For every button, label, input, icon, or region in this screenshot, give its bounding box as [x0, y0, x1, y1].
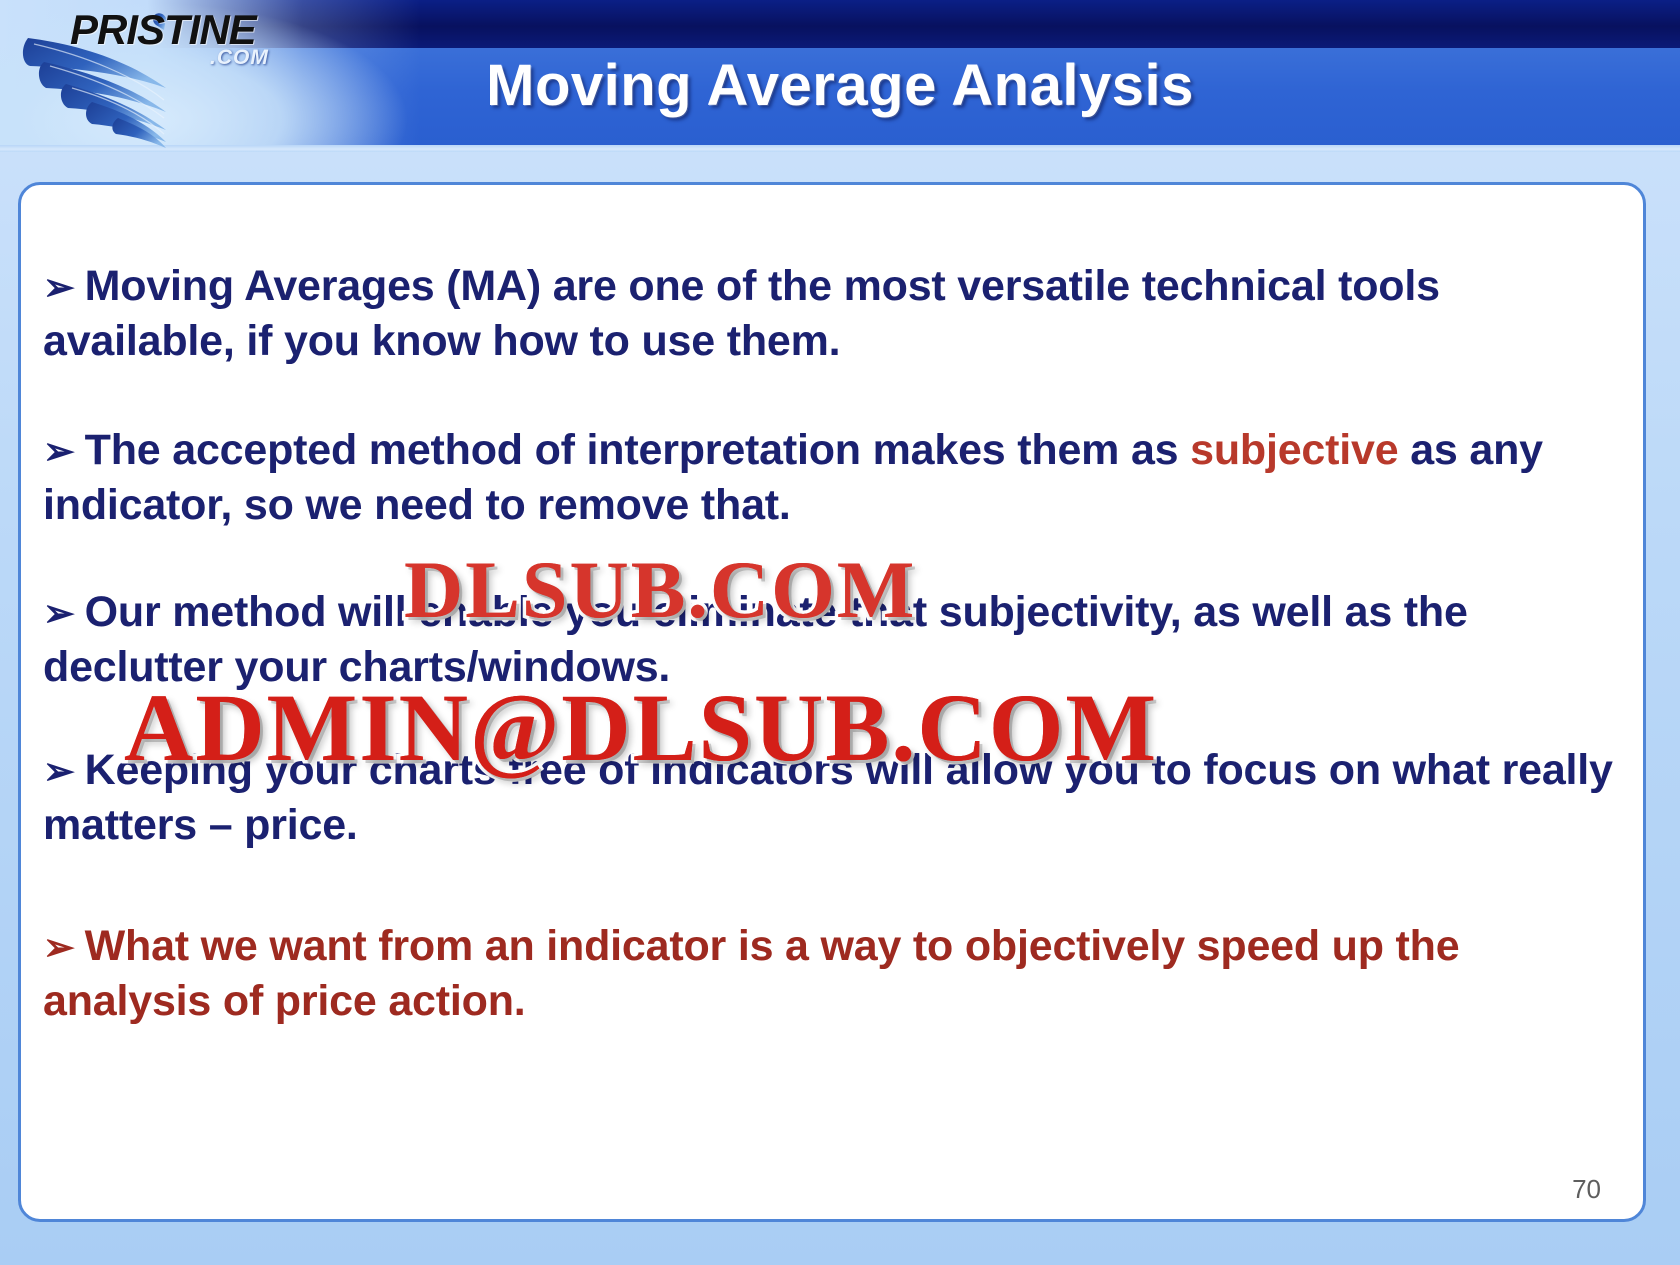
bullet-marker-icon: ➢ — [43, 431, 85, 473]
bullet-item: ➢The accepted method of interpretation m… — [43, 423, 1623, 533]
bullet-item: ➢What we want from an indicator is a way… — [43, 919, 1623, 1029]
page-number: 70 — [1572, 1174, 1601, 1205]
slide-banner: Moving Average Analysis — [0, 0, 1680, 152]
bullet-text: What we want from an indicator is a way … — [43, 922, 1459, 1025]
bullet-list: ➢Moving Averages (MA) are one of the mos… — [43, 259, 1623, 1029]
bullet-marker-icon: ➢ — [43, 927, 85, 969]
bullet-text: Moving Averages (MA) are one of the most… — [43, 262, 1440, 365]
bullet-text-highlight: subjective — [1190, 426, 1398, 474]
bullet-item: ➢Moving Averages (MA) are one of the mos… — [43, 259, 1623, 369]
bullet-text: The accepted method of interpretation ma… — [85, 426, 1190, 474]
bullet-marker-icon: ➢ — [43, 593, 85, 635]
watermark-site-fill: DLSUB.COM — [404, 543, 916, 637]
slide: Moving Average Analysis — [0, 0, 1680, 1265]
watermark-email-fill: ADMIN@DLSUB.COM — [124, 672, 1158, 783]
pristine-logo: PRISTINE .COM — [14, 0, 344, 152]
logo-suffix: .COM — [210, 46, 269, 70]
bullet-marker-icon: ➢ — [43, 751, 85, 793]
bullet-marker-icon: ➢ — [43, 267, 85, 309]
